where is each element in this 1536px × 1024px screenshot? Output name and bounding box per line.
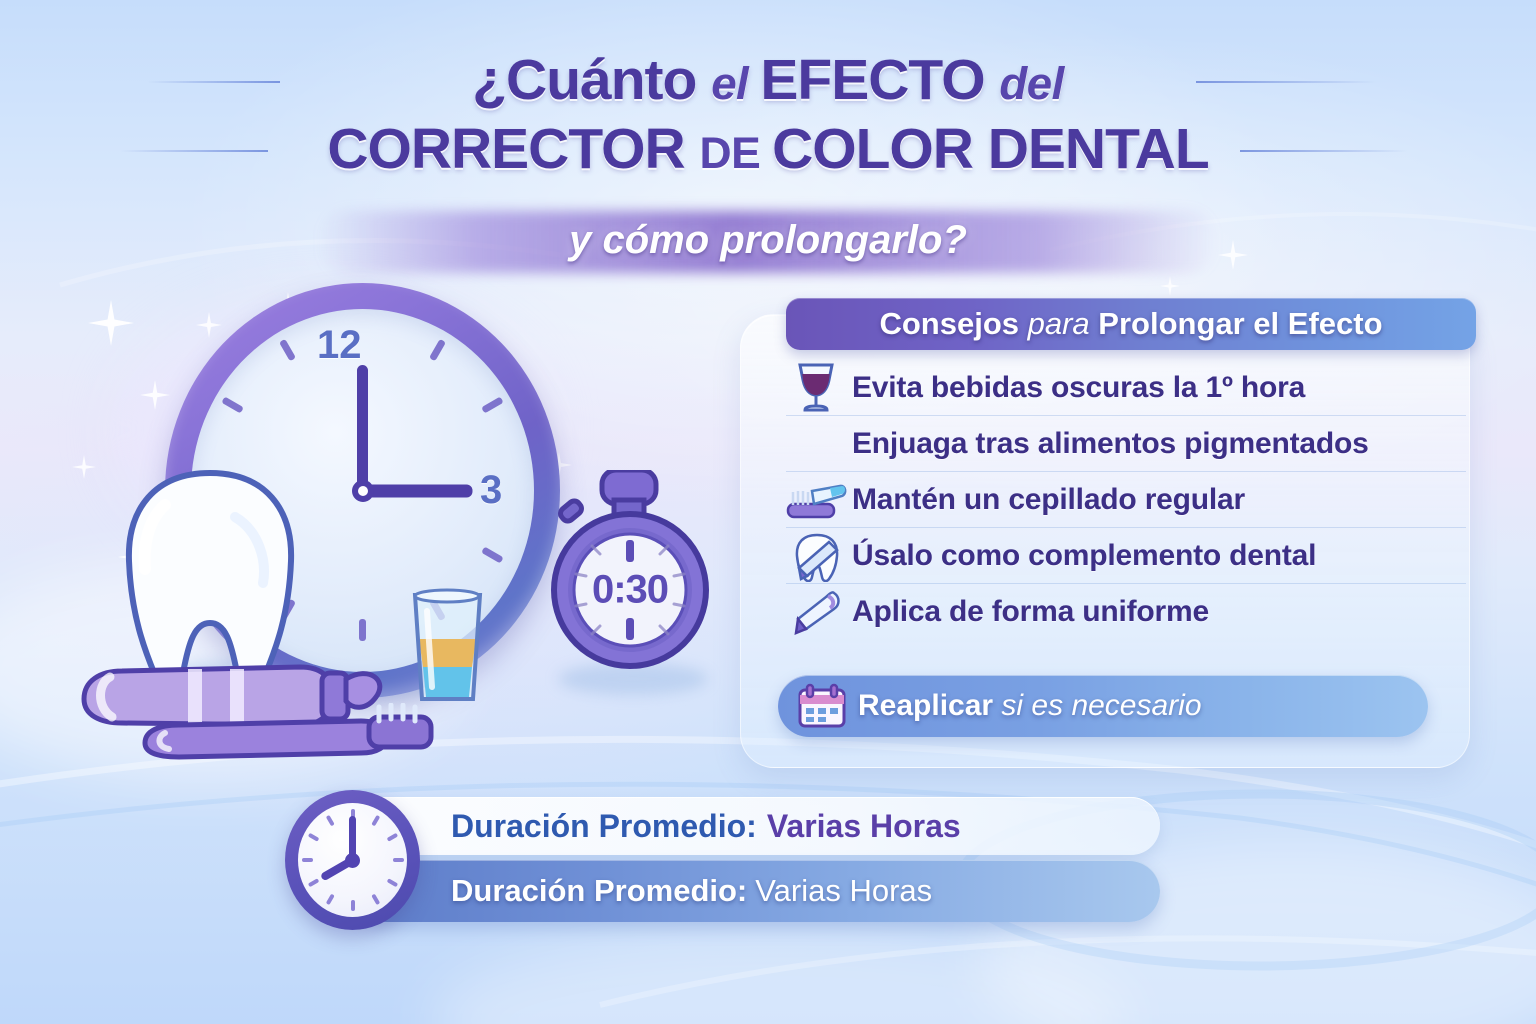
toothbrush-icon (135, 703, 455, 765)
duration-banner-dark: Duración Promedio:Varias Horas (355, 860, 1160, 922)
bottom-clock-tick (302, 858, 313, 862)
title-seg-de: DE (699, 129, 772, 178)
clock-minute-hand (357, 365, 368, 491)
clock-tick (221, 396, 244, 413)
bottom-clock-tick (325, 894, 334, 906)
reapply-bold: Reaplicar (858, 689, 1001, 722)
title-rule-left-2 (120, 150, 268, 152)
tips-header-bar: Consejos para Prolongar el Efecto (786, 298, 1476, 350)
title-seg-el: el (711, 58, 760, 109)
tip-item-1[interactable]: Evita bebidas oscuras la 1º hora (786, 360, 1466, 415)
duration-banner-light: Duración Promedio:Varias Horas (355, 797, 1160, 855)
title-seg-del: del (999, 58, 1063, 109)
applicator-brush-icon (786, 586, 852, 638)
bottom-clock-tick (386, 878, 398, 887)
bottom-clock-tick (351, 900, 355, 911)
clock-tick (481, 546, 504, 563)
title-rule-right (1196, 81, 1376, 83)
title-line-1: ¿Cuánto el EFECTO del (0, 52, 1536, 109)
bottom-clock-icon (285, 790, 420, 930)
tip-item-3[interactable]: Mantén un cepillado regular (786, 471, 1466, 527)
stopwatch-dial: 0:30 (562, 522, 698, 658)
tooth-applicator-icon (786, 530, 852, 582)
tip-label: Aplica de forma uniforme (852, 595, 1209, 629)
duration-dark-text: Duración Promedio:Varias Horas (451, 873, 932, 909)
tip-label: Evita bebidas oscuras la 1º hora (852, 371, 1305, 405)
duration-light-label: Duración Promedio: (451, 808, 757, 844)
duration-light-value: Varias Horas (767, 808, 961, 844)
title-rule-left (148, 81, 280, 83)
tips-list: Evita bebidas oscuras la 1º hora Enjuaga… (786, 360, 1466, 639)
reapply-light: si es necesario (1001, 689, 1201, 722)
tip-item-4[interactable]: Úsalo como complemento dental (786, 527, 1466, 583)
bottom-clock-tick (307, 833, 319, 842)
stopwatch-time: 0:30 (562, 568, 698, 613)
title-seg-cuanto: ¿Cuánto (472, 48, 711, 112)
tips-header-bold-1: Consejos (879, 306, 1027, 341)
clock-tick (359, 619, 366, 641)
title-seg-color-dental: COLOR DENTAL (772, 117, 1209, 181)
bottom-clock-tick (386, 833, 398, 842)
clock-tick (429, 339, 446, 362)
stopwatch-icon: 0:30 (540, 470, 720, 685)
tips-header-regular: para (1028, 306, 1099, 341)
duration-light-text: Duración Promedio:Varias Horas (451, 808, 961, 845)
reapply-text: Reaplicar si es necesario (858, 689, 1202, 723)
reapply-pill[interactable]: Reaplicar si es necesario (778, 675, 1428, 737)
clock-tick (279, 339, 296, 362)
infographic-canvas: ¿Cuánto el EFECTO del CORRECTOR DE COLOR… (0, 0, 1536, 1024)
title-line-2: CORRECTOR DE COLOR DENTAL (0, 121, 1536, 178)
tips-header-bold-2: Prolongar el Efecto (1098, 306, 1382, 341)
bottom-clock-tick (371, 815, 380, 827)
tip-item-2[interactable]: Enjuaga tras alimentos pigmentados (786, 415, 1466, 471)
title-seg-efecto: EFECTO (760, 48, 999, 112)
clock-tick (481, 396, 504, 413)
tip-item-5[interactable]: Aplica de forma uniforme (786, 583, 1466, 639)
wine-glass-icon (786, 362, 852, 414)
bottom-clock-tick (393, 858, 404, 862)
water-glass-icon (405, 587, 490, 707)
toothbrush-paste-icon (786, 474, 852, 526)
bottom-clock-tick (307, 878, 319, 887)
tip-label: Mantén un cepillado regular (852, 483, 1245, 517)
wine-glass-icon (786, 418, 852, 470)
clock-hour-hand (363, 484, 473, 497)
bg-cloud-3 (430, 930, 1130, 1024)
bottom-clock-tick (325, 815, 334, 827)
tip-label: Úsalo como complemento dental (852, 539, 1316, 573)
tip-label: Enjuaga tras alimentos pigmentados (852, 427, 1369, 461)
duration-dark-label: Duración Promedio: (451, 873, 747, 908)
title-block: ¿Cuánto el EFECTO del CORRECTOR DE COLOR… (0, 52, 1536, 178)
clock-center-pin (352, 480, 374, 502)
sparkle-icon (1160, 276, 1180, 296)
clock-number-3: 3 (480, 468, 502, 513)
bottom-clock-center-pin (345, 853, 360, 868)
clock-number-12: 12 (317, 323, 362, 368)
tips-header-text: Consejos para Prolongar el Efecto (879, 306, 1382, 342)
calendar-icon (792, 680, 858, 732)
bottom-clock-tick (371, 894, 380, 906)
illustration-group: 12 3 (60, 265, 750, 795)
title-seg-corrector: CORRECTOR (327, 117, 699, 181)
duration-dark-value: Varias Horas (755, 873, 932, 908)
title-rule-right-2 (1240, 150, 1408, 152)
bottom-clock-face (298, 803, 407, 917)
